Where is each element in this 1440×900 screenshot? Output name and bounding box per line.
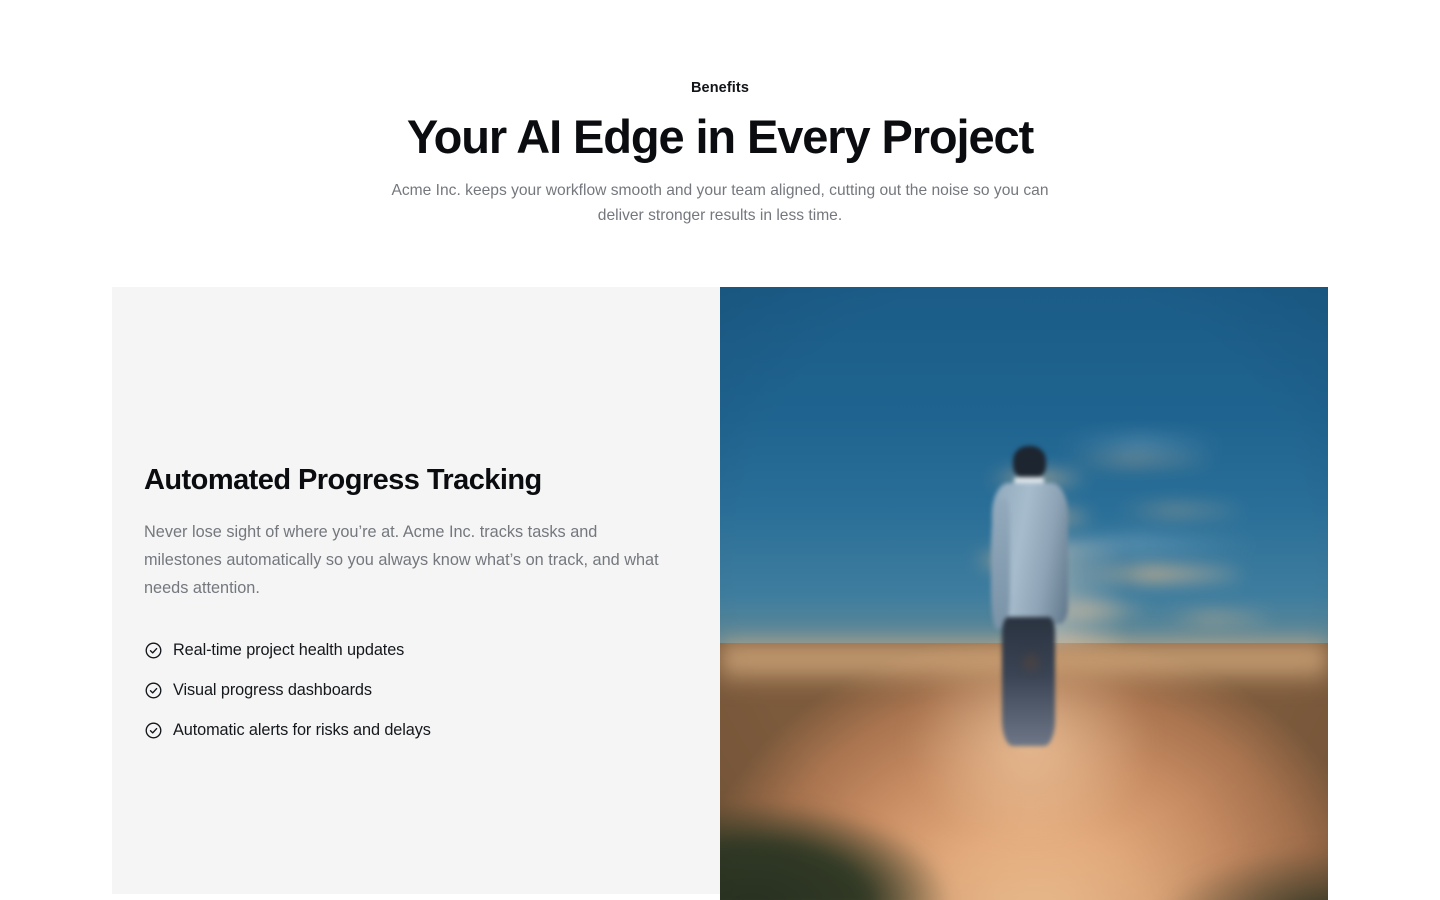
feature-bullet-list: Real-time project health updates Visual …: [144, 630, 704, 750]
check-circle-icon: [144, 641, 163, 660]
benefits-section-page: Benefits Your AI Edge in Every Project A…: [0, 0, 1440, 900]
page-title: Your AI Edge in Every Project: [0, 109, 1440, 165]
list-item-label: Real-time project health updates: [173, 638, 404, 662]
list-item-label: Automatic alerts for risks and delays: [173, 718, 431, 742]
feature-copy-inner: Automated Progress Tracking Never lose s…: [144, 462, 704, 750]
photo-vignette: [720, 287, 1328, 900]
list-item: Real-time project health updates: [144, 630, 704, 670]
feature-block: Automated Progress Tracking Never lose s…: [112, 287, 1328, 894]
list-item: Automatic alerts for risks and delays: [144, 710, 704, 750]
check-circle-icon: [144, 681, 163, 700]
section-header: Benefits Your AI Edge in Every Project A…: [0, 78, 1440, 228]
list-item-label: Visual progress dashboards: [173, 678, 372, 702]
feature-description: Never lose sight of where you’re at. Acm…: [144, 518, 669, 602]
feature-heading: Automated Progress Tracking: [144, 462, 704, 498]
section-subtitle: Acme Inc. keeps your workflow smooth and…: [384, 179, 1056, 228]
list-item: Visual progress dashboards: [144, 670, 704, 710]
photo-canvas: [720, 287, 1328, 900]
feature-photo: [720, 287, 1328, 900]
section-eyebrow: Benefits: [0, 78, 1440, 98]
check-circle-icon: [144, 721, 163, 740]
